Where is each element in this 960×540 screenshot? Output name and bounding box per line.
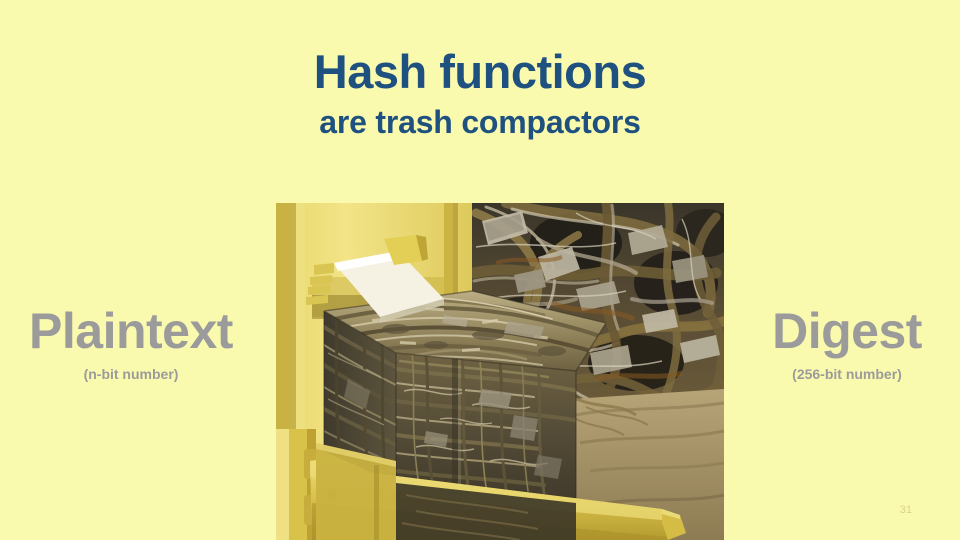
slide-canvas: Hash functions are trash compactors Plai…: [0, 0, 960, 540]
label-plaintext: Plaintext (n-bit number): [0, 306, 262, 381]
page-subtitle: are trash compactors: [0, 106, 960, 138]
label-plaintext-detail: (n-bit number): [0, 367, 262, 381]
label-digest-name: Digest: [736, 306, 958, 356]
slide-title-block: Hash functions are trash compactors: [0, 48, 960, 138]
label-digest-detail: (256-bit number): [736, 367, 958, 381]
label-plaintext-name: Plaintext: [0, 306, 262, 356]
photo-illustration: [276, 203, 724, 540]
page-title: Hash functions: [0, 48, 960, 95]
photo-trash-compactor: [276, 203, 724, 540]
slide-number: 31: [900, 504, 912, 516]
label-digest: Digest (256-bit number): [736, 306, 958, 381]
